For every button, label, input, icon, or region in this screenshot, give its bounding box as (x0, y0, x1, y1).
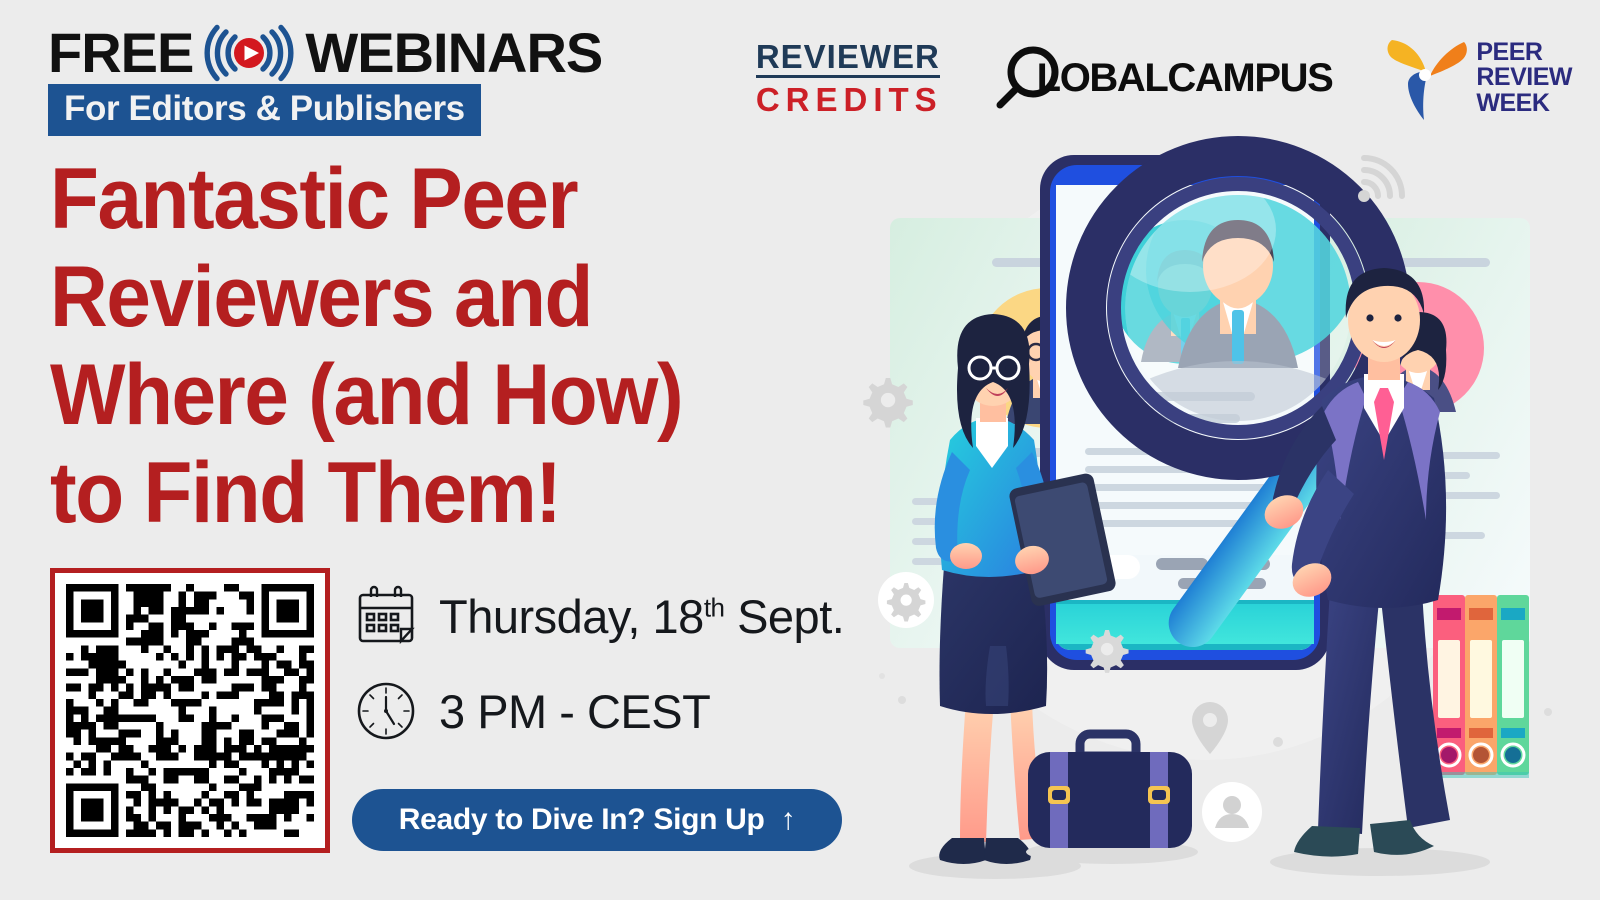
dot-2 (879, 673, 885, 679)
free-word: FREE (48, 25, 193, 81)
arrow-up-icon: ↑ (781, 805, 796, 835)
webinar-promo-banner: FREE WEBINARS For Editors & Publishers (0, 0, 1600, 900)
page-title: Fantastic Peer Reviewers and Where (and … (50, 150, 840, 542)
time-row: 3 PM - CEST (355, 680, 710, 742)
gear-badge-icon (878, 572, 934, 628)
hero-illustration (860, 0, 1600, 900)
dot-4 (1544, 708, 1552, 716)
calendar-icon (355, 585, 417, 647)
subtitle-text: For Editors & Publishers (64, 89, 465, 128)
gear-icon (863, 378, 913, 428)
broadcast-play-icon (197, 24, 301, 82)
headline-line-4: to Find Them! (50, 444, 785, 542)
briefcase (1026, 734, 1198, 864)
gear-icon-2 (1086, 630, 1129, 673)
user-badge-icon (1202, 782, 1262, 842)
left-content-column: FREE WEBINARS For Editors & Publishers (0, 0, 870, 900)
date-ordinal: th (704, 592, 725, 622)
wifi-icon (1358, 158, 1402, 202)
binder-folders (1433, 595, 1529, 778)
subtitle-bar: For Editors & Publishers (48, 84, 481, 136)
date-row: Thursday, 18th Sept. (355, 585, 844, 647)
headline-line-3: Where (and How) (50, 346, 785, 444)
time-text: 3 PM - CEST (439, 684, 710, 739)
dot-1 (898, 696, 906, 704)
sign-up-button[interactable]: Ready to Dive In? Sign Up ↑ (352, 789, 842, 851)
clock-icon (355, 680, 417, 742)
webinars-word: WEBINARS (305, 25, 602, 81)
sign-up-label: Ready to Dive In? Sign Up (399, 803, 765, 837)
date-month: Sept. (725, 590, 845, 643)
qr-code[interactable] (66, 584, 314, 837)
date-text: Thursday, 18th Sept. (439, 589, 844, 644)
dot-3 (1273, 737, 1283, 747)
headline-line-1: Fantastic Peer (50, 150, 785, 248)
date-weekday: Thursday, 18 (439, 590, 704, 643)
free-webinars-lockup: FREE WEBINARS (48, 22, 602, 84)
qr-code-frame[interactable] (50, 568, 330, 853)
headline-line-2: Reviewers and (50, 248, 785, 346)
